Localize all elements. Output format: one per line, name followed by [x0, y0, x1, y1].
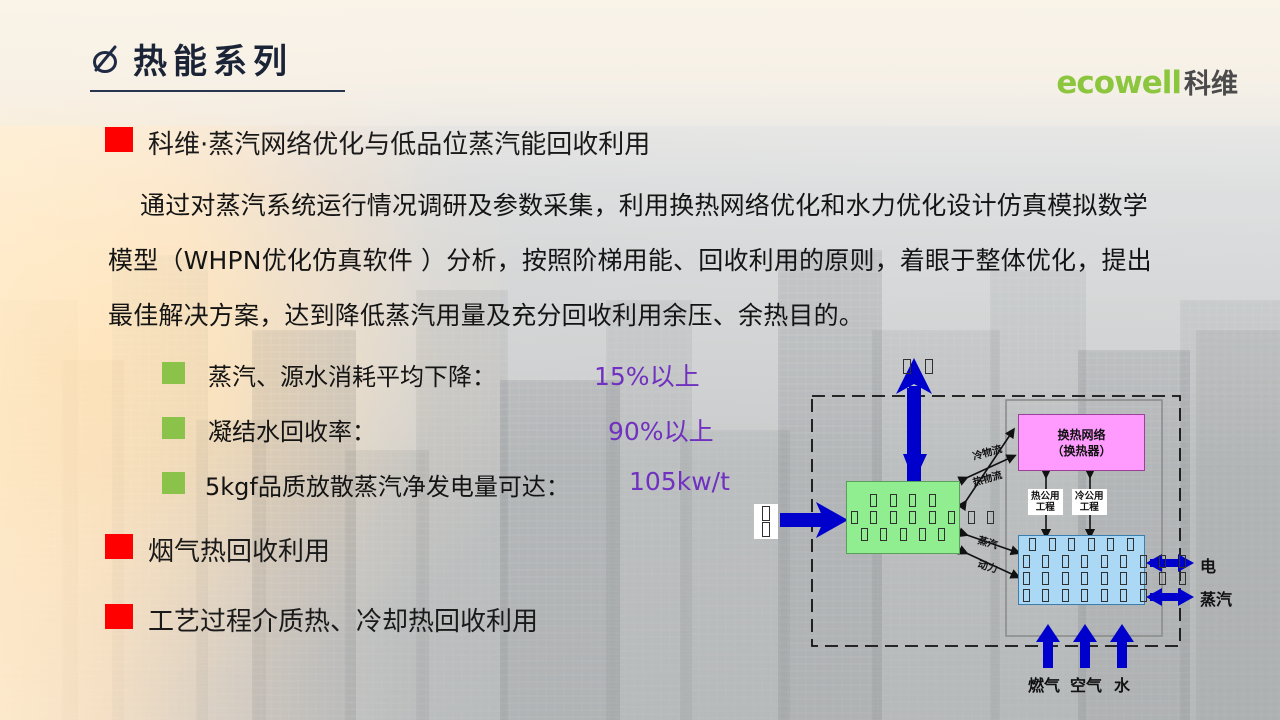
- missing-glyph-icon: [1120, 589, 1127, 602]
- missing-glyph-icon: [880, 528, 887, 541]
- missing-glyph-icon: [1101, 555, 1108, 568]
- metric-label-0: 蒸汽、源水消耗平均下降：: [208, 357, 496, 392]
- missing-glyph-icon: [1068, 538, 1075, 551]
- section-heading: 科维·蒸汽网络优化与低品位蒸汽能回收利用: [148, 124, 650, 161]
- missing-glyph-icon: [925, 359, 933, 374]
- missing-glyph-icon: [919, 528, 926, 541]
- bullet-marker-green: [162, 417, 185, 439]
- cold-utility-line-1: 冷公用: [1075, 491, 1104, 502]
- hot-utility-line-2: 工程: [1031, 502, 1060, 513]
- metric-value-0: 15%以上: [594, 357, 700, 393]
- output-label-top-glyphs: [898, 358, 938, 376]
- missing-glyph-icon: [1107, 538, 1114, 551]
- input-arrow-shaft: [780, 513, 826, 527]
- missing-glyph-icon: [1159, 555, 1166, 568]
- missing-glyph-icon: [1088, 538, 1095, 551]
- hot-utility-chip: 热公用 工程: [1028, 489, 1063, 515]
- heat-exchange-network-box: 换热网络 （换热器）: [1018, 414, 1145, 471]
- missing-glyph-icon: [1127, 538, 1134, 551]
- metric-label-1: 凝结水回收率：: [208, 412, 376, 447]
- cold-utility-line-2: 工程: [1075, 502, 1104, 513]
- missing-glyph-icon: [1023, 589, 1030, 602]
- input-label-water: 水: [1114, 672, 1130, 696]
- missing-glyph-icon: [1023, 555, 1030, 568]
- paragraph-line-3: 最佳解决方案，达到降低蒸汽用量及充分回收利用余压、余热目的。: [108, 296, 864, 332]
- diagram-vectors: [750, 352, 1280, 720]
- glyph-row: [847, 492, 959, 509]
- missing-glyph-icon: [900, 528, 907, 541]
- missing-glyph-icon: [1042, 589, 1049, 602]
- missing-glyph-icon: [909, 494, 916, 507]
- glyph-row: [847, 526, 959, 543]
- missing-glyph-icon: [938, 528, 945, 541]
- sub-heading-0: 烟气热回收利用: [148, 531, 330, 568]
- slide-canvas: 热能系列 ecowell 科维 科维·蒸汽网络优化与低品位蒸汽能回收利用 通过对…: [0, 0, 1280, 720]
- missing-glyph-icon: [1179, 555, 1186, 568]
- missing-glyph-icon: [762, 522, 770, 537]
- missing-glyph-icon: [1120, 572, 1127, 585]
- missing-glyph-icon: [1062, 589, 1069, 602]
- input-label-gas: 燃气: [1028, 672, 1060, 696]
- missing-glyph-icon: [851, 511, 858, 524]
- paragraph-line-2: 模型（WHPN优化仿真软件 ）分析，按照阶梯用能、回收利用的原则，着眼于整体优化…: [108, 241, 1152, 277]
- missing-glyph-icon: [948, 511, 955, 524]
- output-arrow-shaft: [907, 388, 921, 484]
- blue-utility-box: [1018, 535, 1145, 605]
- missing-glyph-icon: [1159, 572, 1166, 585]
- glyph-row: [1019, 587, 1144, 604]
- glyph-row: [1019, 570, 1144, 587]
- output-label-electricity: 电: [1200, 553, 1216, 577]
- input-label-air: 空气: [1070, 672, 1102, 696]
- glyph-row: [1019, 553, 1144, 570]
- bullet-marker-red: [105, 604, 133, 629]
- bullet-marker-green: [162, 472, 185, 494]
- missing-glyph-icon: [1101, 572, 1108, 585]
- green-process-box: [846, 481, 960, 554]
- output-label-steam: 蒸汽: [1200, 586, 1232, 610]
- metric-value-1: 90%以上: [608, 412, 714, 448]
- missing-glyph-icon: [762, 506, 770, 521]
- hot-utility-line-1: 热公用: [1031, 491, 1060, 502]
- missing-glyph-icon: [1140, 589, 1147, 602]
- missing-glyph-icon: [1120, 555, 1127, 568]
- missing-glyph-icon: [968, 511, 975, 524]
- bullet-marker-red: [105, 127, 133, 152]
- missing-glyph-icon: [929, 511, 936, 524]
- input-arrows-bottom: [1036, 624, 1134, 668]
- sub-heading-1: 工艺过程介质热、冷却热回收利用: [148, 601, 538, 638]
- missing-glyph-icon: [987, 511, 994, 524]
- missing-glyph-icon: [1081, 572, 1088, 585]
- metric-label-2: 5kgf品质放散蒸汽净发电量可达：: [205, 467, 570, 502]
- missing-glyph-icon: [909, 511, 916, 524]
- missing-glyph-icon: [890, 494, 897, 507]
- missing-glyph-icon: [870, 511, 877, 524]
- missing-glyph-icon: [1140, 555, 1147, 568]
- heat-network-line-1: 换热网络: [1057, 427, 1105, 443]
- bullet-marker-green: [162, 362, 185, 384]
- missing-glyph-icon: [1140, 572, 1147, 585]
- missing-glyph-icon: [1042, 555, 1049, 568]
- glyph-row: [1019, 536, 1144, 553]
- paragraph-line-1: 通过对蒸汽系统运行情况调研及参数采集，利用换热网络优化和水力优化设计仿真模拟数学: [140, 186, 1148, 222]
- missing-glyph-icon: [1062, 555, 1069, 568]
- cold-utility-chip: 冷公用 工程: [1072, 489, 1107, 515]
- missing-glyph-icon: [861, 528, 868, 541]
- missing-glyph-icon: [929, 494, 936, 507]
- input-label-left-glyphs: [754, 504, 778, 539]
- missing-glyph-icon: [1042, 572, 1049, 585]
- missing-glyph-icon: [1101, 589, 1108, 602]
- heat-network-line-2: （换热器）: [1051, 443, 1111, 459]
- missing-glyph-icon: [1049, 538, 1056, 551]
- glyph-row: [847, 509, 959, 526]
- missing-glyph-icon: [903, 359, 911, 374]
- bullet-marker-red: [105, 534, 133, 559]
- missing-glyph-icon: [1023, 572, 1030, 585]
- missing-glyph-icon: [1179, 572, 1186, 585]
- missing-glyph-icon: [1029, 538, 1036, 551]
- missing-glyph-icon: [1081, 589, 1088, 602]
- metric-value-2: 105kw/t: [629, 467, 730, 496]
- missing-glyph-icon: [870, 494, 877, 507]
- missing-glyph-icon: [1062, 572, 1069, 585]
- energy-flow-diagram: 换热网络 （换热器）: [750, 352, 1280, 720]
- missing-glyph-icon: [1081, 555, 1088, 568]
- missing-glyph-icon: [890, 511, 897, 524]
